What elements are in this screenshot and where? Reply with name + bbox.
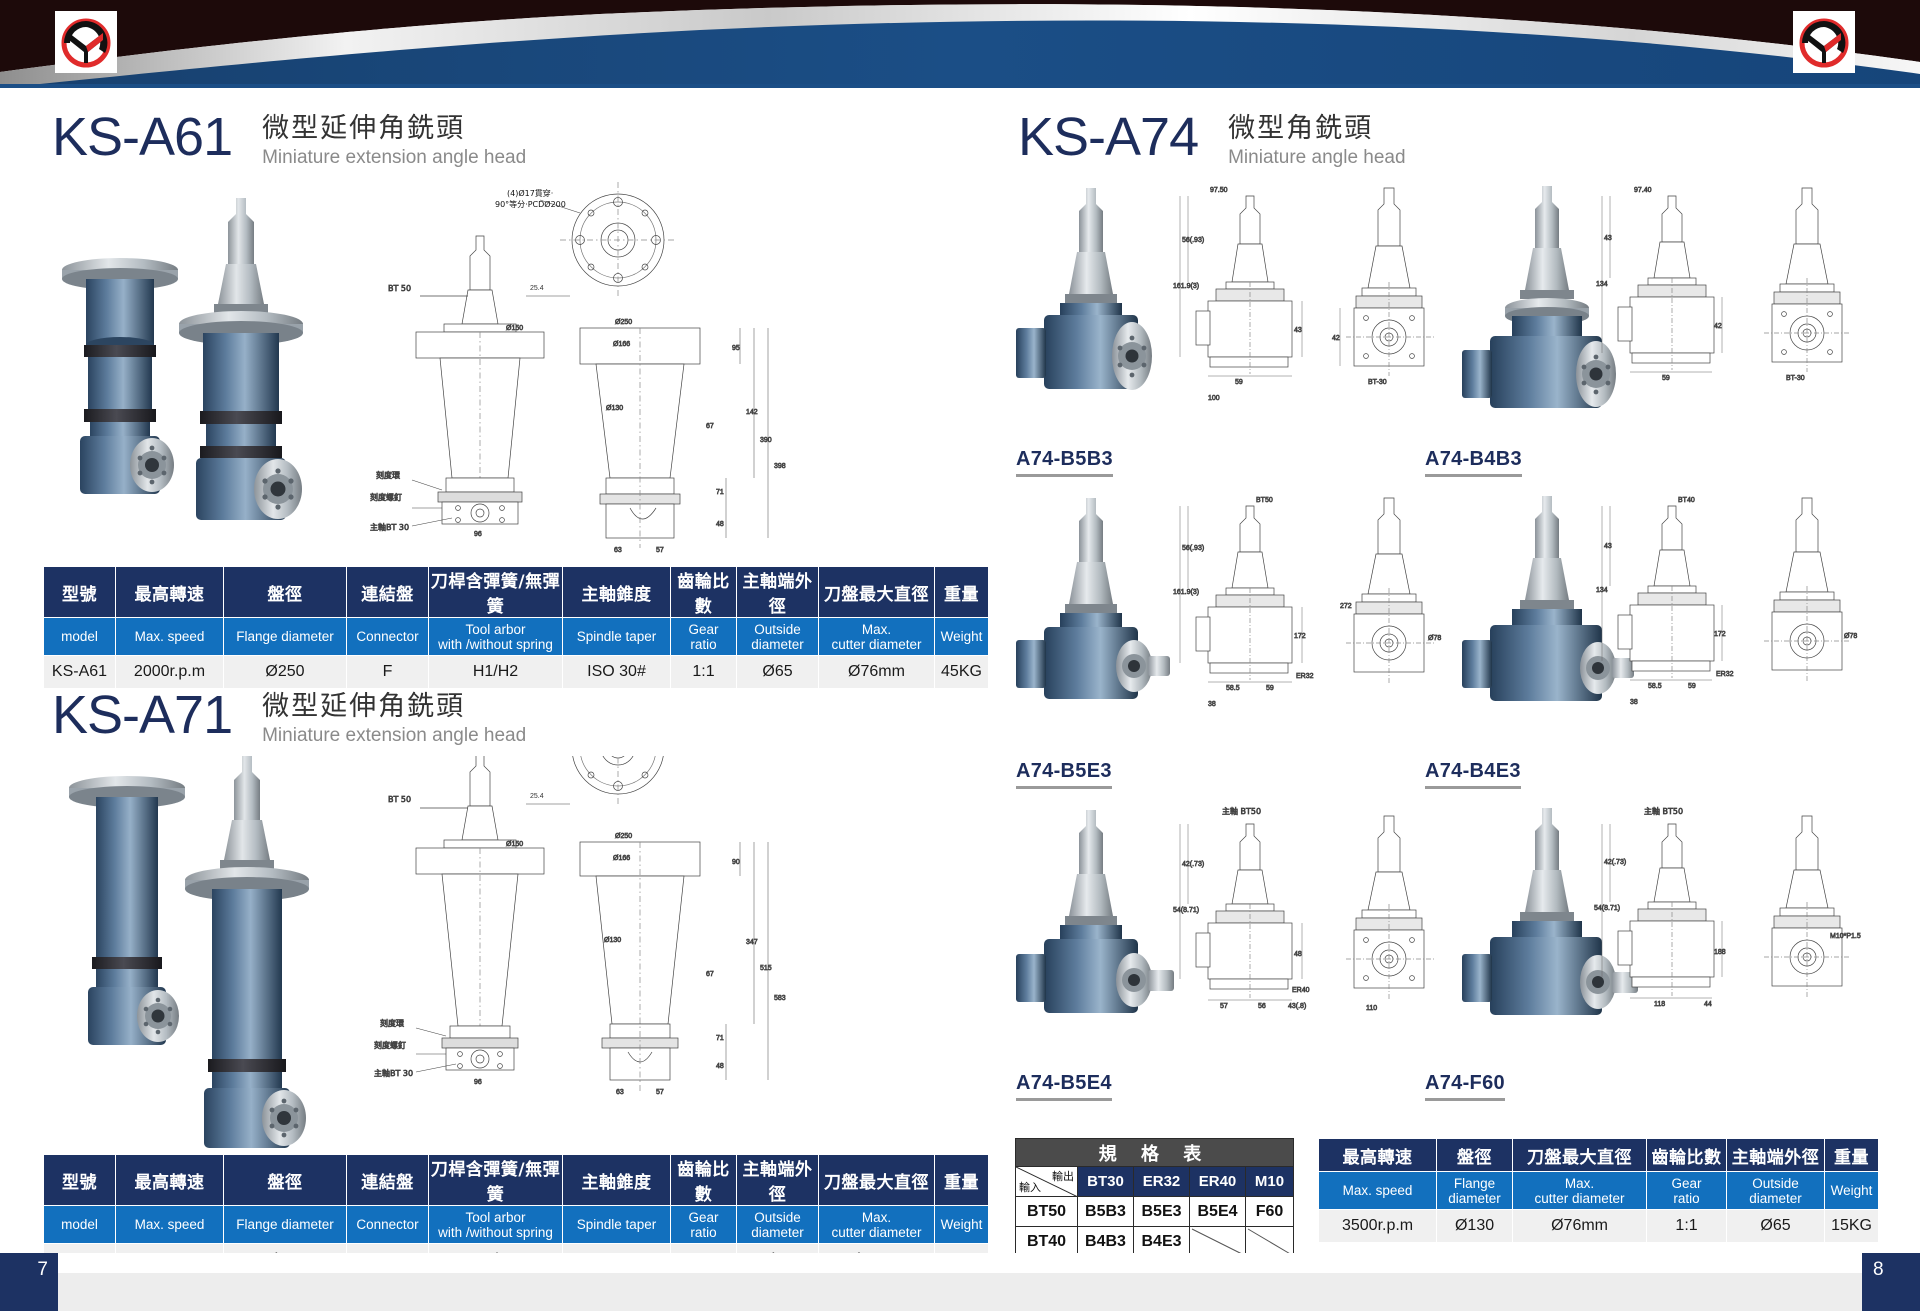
variant-label-0: A74-B5B3: [1016, 448, 1113, 477]
table-header-cn-row: 型號 最高轉速 盤徑 連結盤 刀桿含彈簧/無彈簧 主軸錐度 齒輪比數 主軸端外徑…: [44, 567, 989, 618]
th-cn-gear: 齒輪比數: [671, 1155, 737, 1206]
page-number-left-label: 7: [37, 1259, 48, 1281]
svg-text:398: 398: [774, 463, 786, 470]
th-en-outside: Outside diameter: [737, 1206, 819, 1244]
drawing-variant-end: M10*P1.5: [1764, 816, 1861, 998]
th-en-taper: Spindle taper: [563, 1206, 671, 1244]
th-en-weight: Weight: [1825, 1172, 1879, 1210]
drawing-a61-hole-note: (4)Ø17貫穿‧ 90°等分‧PCDØ200 25.4: [495, 188, 580, 296]
table-header-en-row: model Max. speed Flange diameter Connect…: [44, 618, 989, 656]
table-header-en-row: Max. speed Flange diameter Max. cutter d…: [1319, 1172, 1879, 1210]
svg-text:M10*P1.5: M10*P1.5: [1830, 933, 1861, 940]
svg-text:118: 118: [1654, 1001, 1665, 1008]
footer-bar: [0, 1273, 1920, 1311]
drawing-a61-flange-top: [560, 182, 676, 298]
drawing-variant-end: 42 BT-30: [1332, 188, 1434, 386]
th-en-outside: Outside diameter: [737, 618, 819, 656]
drawing-variant-end: Ø78: [1764, 498, 1857, 682]
photo-a71-taper: [185, 756, 309, 1148]
svg-text:63: 63: [616, 1089, 624, 1096]
page-number-left: 7: [0, 1253, 58, 1311]
svg-text:59: 59: [1266, 685, 1274, 692]
grid-row-label: BT40: [1016, 1227, 1078, 1257]
svg-text:42: 42: [1714, 323, 1722, 330]
svg-text:刻度環: 刻度環: [376, 470, 400, 480]
grid-cell: B4B3: [1078, 1227, 1134, 1257]
svg-text:56(.93): 56(.93): [1182, 237, 1204, 244]
th-en-gear: Gear ratio: [671, 618, 737, 656]
svg-text:54(8.71): 54(8.71): [1173, 907, 1199, 914]
svg-text:100: 100: [1208, 395, 1220, 402]
drawing-a71-elevation: Ø250 Ø166 Ø130 90 347 515: [580, 833, 786, 1096]
svg-text:43: 43: [1604, 235, 1612, 242]
th-cn-speed: 最高轉速: [1319, 1139, 1437, 1172]
svg-text:59: 59: [1662, 375, 1670, 382]
illustration-ks-a61: (4)Ø17貫穿‧ 90°等分‧PCDØ200 25.4 BT 50 Ø150: [40, 178, 930, 628]
th-en-gear: Gear ratio: [671, 1206, 737, 1244]
right-page: KS-A74 微型角銑頭 Miniature angle head: [960, 88, 1920, 1253]
variant-label-1: A74-B4B3: [1425, 448, 1522, 477]
illustration-ks-a71: (4)Ø17貫穿‧ 90°等分‧PCDØ200 25.4 BT 50 Ø150: [40, 756, 930, 1206]
th-cn-weight: 重量: [1825, 1139, 1879, 1172]
svg-text:134: 134: [1596, 587, 1608, 594]
grid-cell: B5B3: [1078, 1197, 1134, 1227]
svg-text:110: 110: [1366, 1005, 1377, 1012]
grid-row-bt50: BT50 B5B3 B5E3 B5E4 F60: [1016, 1197, 1294, 1227]
variant-label-4: A74-B5E4: [1016, 1072, 1112, 1101]
grid-table-corner: 輸出 輸入: [1016, 1167, 1078, 1197]
th-cn-gear: 齒輪比數: [671, 567, 737, 618]
th-en-speed: Max. speed: [116, 1206, 224, 1244]
grid-cell-empty: [1246, 1227, 1294, 1257]
th-cn-arbor: 刀桿含彈簧/無彈簧: [429, 1155, 563, 1206]
svg-text:44: 44: [1704, 1001, 1712, 1008]
svg-text:56(.93): 56(.93): [1182, 545, 1204, 552]
variant-label-2: A74-B5E3: [1016, 760, 1112, 789]
svg-text:96: 96: [474, 531, 482, 538]
product-name-en: Miniature extension angle head: [262, 724, 526, 747]
svg-text:96: 96: [474, 1079, 482, 1086]
svg-text:347: 347: [746, 939, 758, 946]
th-en-cutter: Max. cutter diameter: [819, 618, 935, 656]
svg-text:刻度環: 刻度環: [380, 1018, 404, 1028]
product-code: KS-A71: [52, 688, 232, 742]
svg-text:161.9(3): 161.9(3): [1173, 283, 1199, 290]
td-cutter: Ø76mm: [1513, 1210, 1647, 1243]
photo-variant: [1016, 810, 1174, 1013]
svg-text:(4)Ø17貫穿‧: (4)Ø17貫穿‧: [507, 188, 553, 198]
svg-text:57: 57: [656, 1089, 664, 1096]
drawing-a61-section: BT 50 Ø150 刻度環 刻度螺釘 主軸BT: [370, 236, 544, 538]
grid-row-bt40: BT40 B4B3 B4E3: [1016, 1227, 1294, 1257]
svg-text:42(.73): 42(.73): [1182, 861, 1204, 868]
svg-text:Ø150: Ø150: [506, 841, 523, 848]
svg-text:主軸 BT50: 主軸 BT50: [1222, 806, 1261, 816]
th-cn-taper: 主軸錐度: [563, 567, 671, 618]
svg-text:BT 50: BT 50: [388, 284, 411, 293]
top-banner: [0, 0, 1920, 88]
page-number-right: 8: [1862, 1253, 1920, 1311]
td-connector: F: [347, 656, 429, 689]
grid-cell: F60: [1246, 1197, 1294, 1227]
th-cn-taper: 主軸錐度: [563, 1155, 671, 1206]
variant-illustration-3: BT40 43 134 172 58.5 59 ER32 38 Ø78: [1420, 488, 1870, 778]
spec-table-ks-a61: 型號 最高轉速 盤徑 連結盤 刀桿含彈簧/無彈簧 主軸錐度 齒輪比數 主軸端外徑…: [43, 566, 989, 689]
product-name-en: Miniature extension angle head: [262, 146, 526, 169]
photo-variant: [1016, 498, 1170, 699]
svg-text:主軸 BT50: 主軸 BT50: [1644, 806, 1683, 816]
svg-text:BT-30: BT-30: [1368, 379, 1387, 386]
svg-text:ER32: ER32: [1716, 671, 1734, 678]
photo-a71-front: [69, 776, 185, 1045]
drawing-a71-section: BT 50 Ø150 刻度環 刻度螺釘 主軸BT: [374, 756, 544, 1086]
grid-cell: B5E4: [1190, 1197, 1246, 1227]
svg-text:主軸BT 30: 主軸BT 30: [374, 1068, 413, 1078]
drawing-a61-elevation: Ø250 Ø166 Ø130 95 142 39: [580, 319, 786, 554]
svg-text:161.9(3): 161.9(3): [1173, 589, 1199, 596]
svg-text:Ø250: Ø250: [615, 319, 632, 326]
svg-text:172: 172: [1294, 633, 1306, 640]
th-cn-connector: 連結盤: [347, 567, 429, 618]
page-number-right-label: 8: [1873, 1259, 1884, 1281]
th-en-outside: Outside diameter: [1727, 1172, 1825, 1210]
td-taper: ISO 30#: [563, 656, 671, 689]
variant-illustration-0: 56(.93) 161.9(3) 43 59 97.50 100: [1010, 178, 1450, 468]
th-en-speed: Max. speed: [1319, 1172, 1437, 1210]
spec-table-ks-a74: 最高轉速 盤徑 刀盤最大直徑 齒輪比數 主軸端外徑 重量 Max. speed …: [1318, 1138, 1879, 1243]
th-cn-outside: 主軸端外徑: [1727, 1139, 1825, 1172]
product-name-cn: 微型角銑頭: [1228, 113, 1405, 144]
th-cn-model: 型號: [44, 1155, 116, 1206]
svg-text:主軸BT 30: 主軸BT 30: [370, 522, 409, 532]
grid-row-label: BT50: [1016, 1197, 1078, 1227]
svg-text:Ø150: Ø150: [506, 325, 523, 332]
svg-text:134: 134: [1596, 281, 1608, 288]
svg-text:38: 38: [1630, 699, 1638, 706]
svg-text:BT50: BT50: [1256, 497, 1273, 504]
grid-col-m10: M10: [1246, 1167, 1294, 1197]
grid-cell-empty: [1190, 1227, 1246, 1257]
product-title-ks-a71: KS-A71 微型延伸角銑頭 Miniature extension angle…: [52, 688, 526, 747]
svg-text:71: 71: [716, 1035, 724, 1042]
drawing-variant-side: 43 134 42 59 97.40: [1596, 187, 1722, 382]
th-en-taper: Spindle taper: [563, 618, 671, 656]
svg-text:48: 48: [716, 521, 724, 528]
td-flange: Ø250: [224, 656, 347, 689]
svg-text:57: 57: [656, 547, 664, 554]
svg-text:BT-30: BT-30: [1786, 375, 1805, 382]
th-cn-flange: 盤徑: [1437, 1139, 1513, 1172]
svg-text:583: 583: [774, 995, 786, 1002]
product-title-ks-a74: KS-A74 微型角銑頭 Miniature angle head: [1018, 110, 1406, 169]
svg-text:25.4: 25.4: [530, 793, 544, 800]
svg-text:272: 272: [1340, 603, 1352, 610]
th-cn-speed: 最高轉速: [116, 567, 224, 618]
variant-label-5: A74-F60: [1425, 1072, 1505, 1101]
bottom-tables: 規 格 表 輸出 輸入 BT30 ER32 ER40 M10 BT50 B5B3…: [1015, 1138, 1879, 1257]
grid-cell: B5E3: [1134, 1197, 1190, 1227]
svg-text:Ø166: Ø166: [613, 855, 630, 862]
svg-text:BT40: BT40: [1678, 497, 1695, 504]
table-header-cn-row: 型號 最高轉速 盤徑 連結盤 刀桿含彈簧/無彈簧 主軸錐度 齒輪比數 主軸端外徑…: [44, 1155, 989, 1206]
company-logo-left: [55, 11, 117, 73]
svg-text:59: 59: [1688, 683, 1696, 690]
svg-text:58.5: 58.5: [1648, 683, 1662, 690]
td-gear: 1:1: [1647, 1210, 1727, 1243]
svg-text:90: 90: [732, 859, 740, 866]
svg-text:42: 42: [1332, 335, 1340, 342]
svg-text:67: 67: [706, 423, 714, 430]
td-outside: Ø65: [1727, 1210, 1825, 1243]
product-code: KS-A74: [1018, 110, 1198, 164]
variant-illustration-1: 43 134 42 59 97.40 BT-30: [1420, 178, 1870, 468]
td-weight: 15KG: [1825, 1210, 1879, 1243]
th-cn-cutter: 刀盤最大直徑: [819, 567, 935, 618]
drawing-variant-side: 主軸 BT50 42(.73) 54(8.71) 48 57 56: [1173, 806, 1310, 1010]
catalog-spread: KS-A61 微型延伸角銑頭 Miniature extension angle…: [0, 88, 1920, 1253]
th-cn-connector: 連結盤: [347, 1155, 429, 1206]
svg-text:71: 71: [716, 489, 724, 496]
svg-text:515: 515: [760, 965, 772, 972]
product-name-cn: 微型延伸角銑頭: [262, 113, 526, 144]
svg-text:390: 390: [760, 437, 772, 444]
svg-text:90°等分‧PCDØ200: 90°等分‧PCDØ200: [495, 199, 566, 209]
variant-illustration-2: BT50 56(.93) 161.9(3) 172 58.5 59 ER32 3…: [1010, 488, 1450, 778]
corner-output-label: 輸出: [1052, 1168, 1074, 1184]
th-cn-flange: 盤徑: [224, 1155, 347, 1206]
th-cn-model: 型號: [44, 567, 116, 618]
th-en-arbor: Tool arbor with /without spring: [429, 618, 563, 656]
photo-variant: [1462, 186, 1616, 408]
svg-text:188: 188: [1714, 949, 1726, 956]
th-cn-cutter: 刀盤最大直徑: [819, 1155, 935, 1206]
svg-text:Ø78: Ø78: [1844, 633, 1857, 640]
td-arbor: H1/H2: [429, 656, 563, 689]
grid-table-title: 規 格 表: [1016, 1139, 1294, 1167]
photo-a61-taper: [179, 198, 303, 520]
photo-variant: [1462, 496, 1634, 701]
svg-text:42(.73): 42(.73): [1604, 859, 1626, 866]
table-header-cn-row: 最高轉速 盤徑 刀盤最大直徑 齒輪比數 主軸端外徑 重量: [1319, 1139, 1879, 1172]
grid-col-bt30: BT30: [1078, 1167, 1134, 1197]
th-en-connector: Connector: [347, 618, 429, 656]
th-en-gear: Gear ratio: [1647, 1172, 1727, 1210]
product-title-ks-a61: KS-A61 微型延伸角銑頭 Miniature extension angle…: [52, 110, 526, 169]
left-page: KS-A61 微型延伸角銑頭 Miniature extension angle…: [0, 88, 960, 1253]
svg-text:142: 142: [746, 409, 758, 416]
product-code: KS-A61: [52, 110, 232, 164]
td-cutter: Ø76mm: [819, 656, 935, 689]
table-row: KS-A61 2000r.p.m Ø250 F H1/H2 ISO 30# 1:…: [44, 656, 989, 689]
th-en-model: model: [44, 1206, 116, 1244]
svg-text:ER40: ER40: [1292, 987, 1310, 994]
th-en-model: model: [44, 618, 116, 656]
grid-col-er32: ER32: [1134, 1167, 1190, 1197]
td-model: KS-A61: [44, 656, 116, 689]
variant-illustration-5: 主軸 BT50 42(.73) 54(8.71) 188 118 44: [1420, 800, 1870, 1090]
th-cn-outside: 主軸端外徑: [737, 1155, 819, 1206]
th-cn-outside: 主軸端外徑: [737, 567, 819, 618]
variant-grid-table: 規 格 表 輸出 輸入 BT30 ER32 ER40 M10 BT50 B5B3…: [1015, 1138, 1294, 1257]
page-footer: 7 8: [0, 1253, 1920, 1311]
svg-text:Ø130: Ø130: [606, 405, 623, 412]
table-row: 3500r.p.m Ø130 Ø76mm 1:1 Ø65 15KG: [1319, 1210, 1879, 1243]
td-speed: 3500r.p.m: [1319, 1210, 1437, 1243]
svg-text:刻度螺釘: 刻度螺釘: [374, 1040, 406, 1050]
drawing-variant-side: BT50 56(.93) 161.9(3) 172 58.5 59 ER32 3…: [1173, 497, 1314, 708]
svg-text:43: 43: [1294, 327, 1302, 334]
th-en-cutter: Max. cutter diameter: [819, 1206, 935, 1244]
svg-text:ER32: ER32: [1296, 673, 1314, 680]
svg-text:95: 95: [732, 345, 740, 352]
th-en-cutter: Max. cutter diameter: [1513, 1172, 1647, 1210]
th-cn-cutter: 刀盤最大直徑: [1513, 1139, 1647, 1172]
svg-text:59: 59: [1235, 379, 1243, 386]
th-en-speed: Max. speed: [116, 618, 224, 656]
td-speed: 2000r.p.m: [116, 656, 224, 689]
svg-text:56: 56: [1258, 1003, 1266, 1010]
svg-text:67: 67: [706, 971, 714, 978]
svg-text:57: 57: [1220, 1003, 1228, 1010]
product-name-cn: 微型延伸角銑頭: [262, 691, 526, 722]
photo-a61-front: [62, 258, 178, 494]
variant-illustration-4: 主軸 BT50 42(.73) 54(8.71) 48 57 56: [1010, 800, 1450, 1090]
svg-text:97.40: 97.40: [1634, 187, 1652, 194]
svg-text:刻度螺釘: 刻度螺釘: [370, 492, 402, 502]
svg-text:48: 48: [716, 1063, 724, 1070]
svg-text:Ø130: Ø130: [604, 937, 621, 944]
svg-text:48: 48: [1294, 951, 1302, 958]
th-cn-arbor: 刀桿含彈簧/無彈簧: [429, 567, 563, 618]
th-en-flange: Flange diameter: [1437, 1172, 1513, 1210]
th-cn-gear: 齒輪比數: [1647, 1139, 1727, 1172]
svg-text:97.50: 97.50: [1210, 187, 1228, 194]
svg-text:43: 43: [1604, 543, 1612, 550]
drawing-a71-hole-note: (4)Ø17貫穿‧ 90°等分‧PCDØ200 25.4: [495, 756, 580, 804]
svg-text:172: 172: [1714, 631, 1726, 638]
th-cn-speed: 最高轉速: [116, 1155, 224, 1206]
variant-label-3: A74-B4E3: [1425, 760, 1521, 789]
svg-text:38: 38: [1208, 701, 1216, 708]
photo-variant: [1016, 188, 1152, 390]
th-en-connector: Connector: [347, 1206, 429, 1244]
svg-text:43(.8): 43(.8): [1288, 1003, 1306, 1010]
company-logo-right: [1793, 11, 1855, 73]
th-en-arbor: Tool arbor with /without spring: [429, 1206, 563, 1244]
svg-text:58.5: 58.5: [1226, 685, 1240, 692]
svg-text:25.4: 25.4: [530, 285, 544, 292]
table-header-en-row: model Max. speed Flange diameter Connect…: [44, 1206, 989, 1244]
td-flange: Ø130: [1437, 1210, 1513, 1243]
drawing-variant-side: 56(.93) 161.9(3) 43 59 97.50 100: [1173, 187, 1302, 402]
grid-cell: B4E3: [1134, 1227, 1190, 1257]
svg-text:BT 50: BT 50: [388, 795, 411, 804]
svg-text:63: 63: [614, 547, 622, 554]
grid-col-er40: ER40: [1190, 1167, 1246, 1197]
th-en-flange: Flange diameter: [224, 618, 347, 656]
svg-text:Ø250: Ø250: [615, 833, 632, 840]
drawing-a71-flange-top: [560, 756, 676, 806]
drawing-variant-end: BT-30: [1764, 188, 1850, 382]
svg-text:54(8.71): 54(8.71): [1594, 905, 1620, 912]
td-outside: Ø65: [737, 656, 819, 689]
th-cn-flange: 盤徑: [224, 567, 347, 618]
svg-text:Ø166: Ø166: [613, 341, 630, 348]
th-en-flange: Flange diameter: [224, 1206, 347, 1244]
corner-input-label: 輸入: [1019, 1179, 1041, 1195]
td-gear: 1:1: [671, 656, 737, 689]
product-name-en: Miniature angle head: [1228, 146, 1405, 169]
